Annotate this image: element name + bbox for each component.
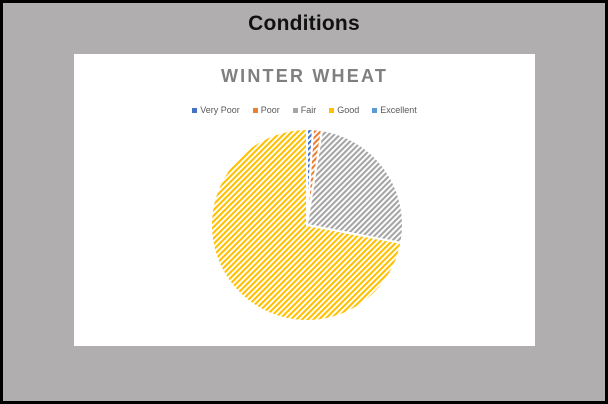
- pie-slices-group[interactable]: [211, 129, 403, 321]
- slide-frame: Conditions WINTER WHEAT Very PoorPoorFai…: [0, 0, 608, 404]
- page-title: Conditions: [3, 11, 605, 37]
- pie-plot-area[interactable]: [74, 54, 535, 346]
- chart-panel[interactable]: WINTER WHEAT Very PoorPoorFairGoodExcell…: [74, 54, 535, 346]
- pie-chart-svg[interactable]: [74, 54, 535, 346]
- pie-slice-fair[interactable]: [307, 130, 403, 243]
